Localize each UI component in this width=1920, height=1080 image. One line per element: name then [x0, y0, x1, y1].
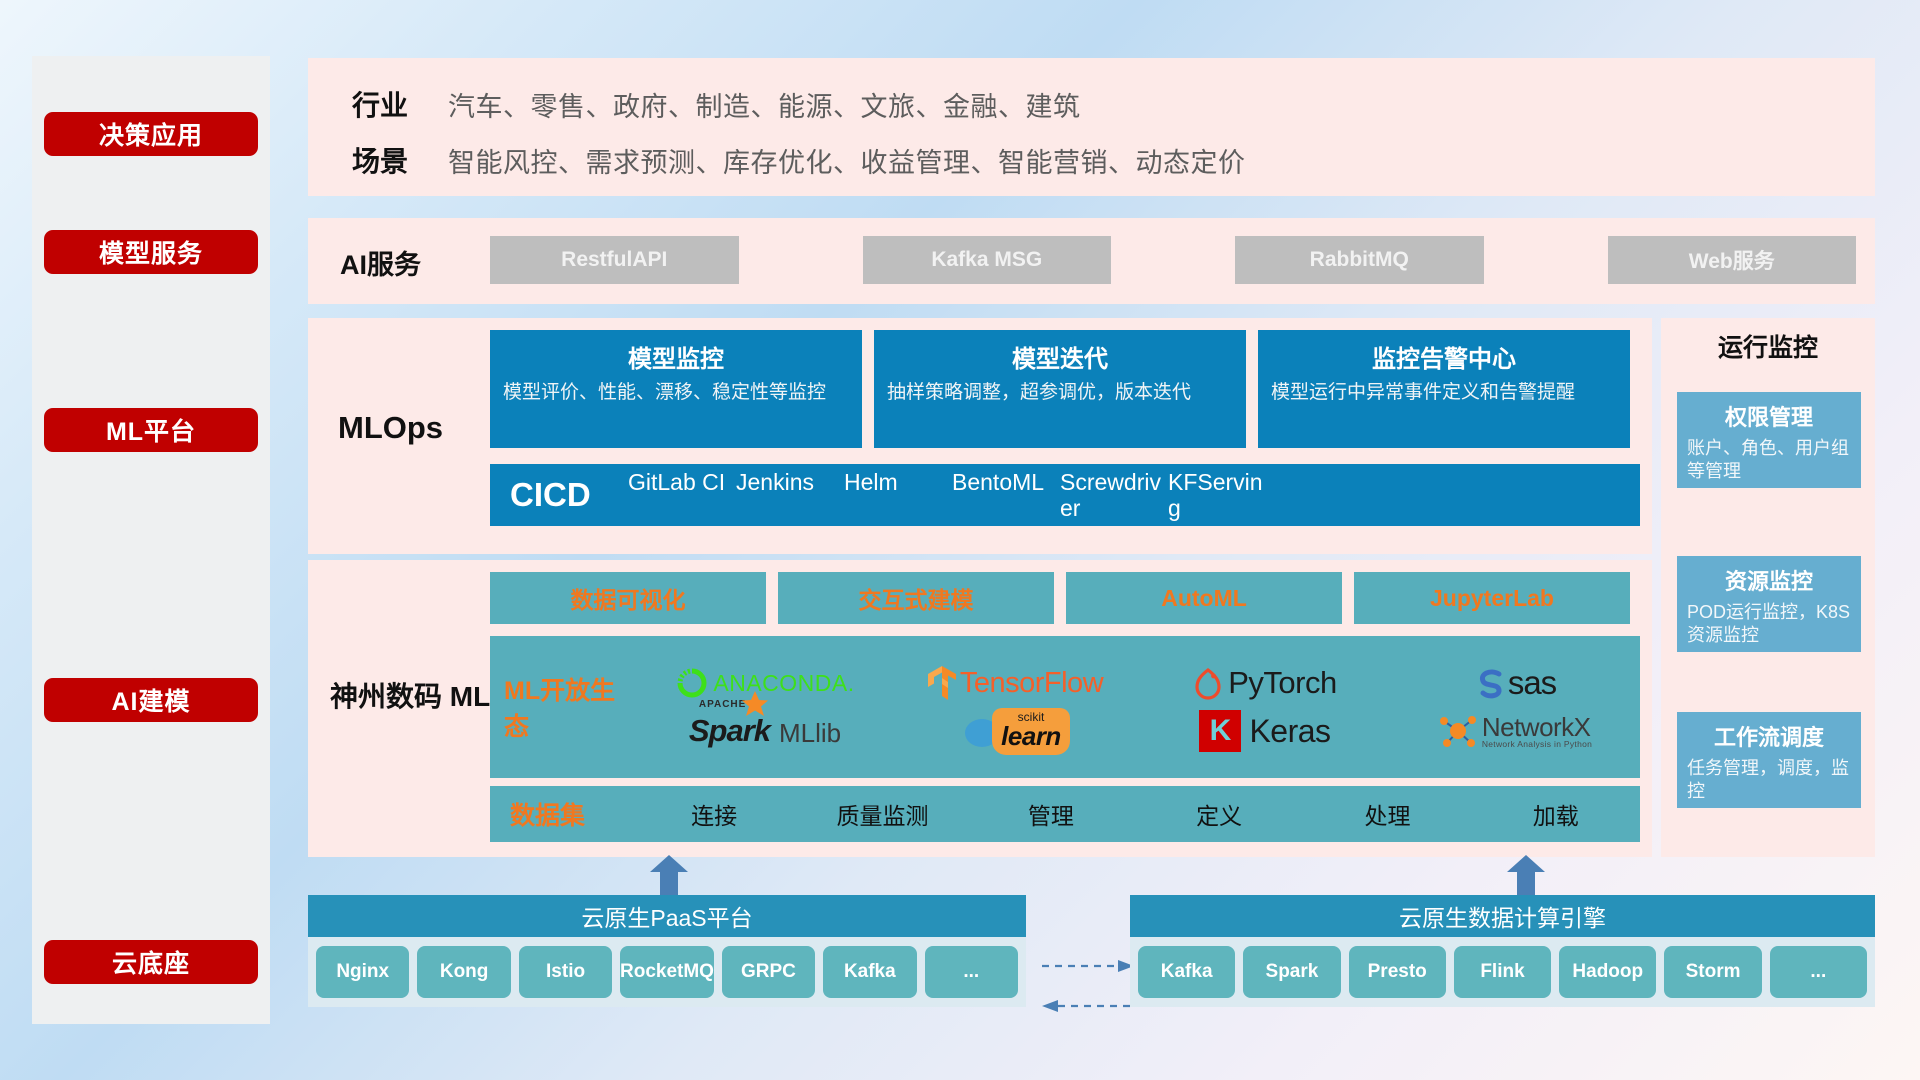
spark-apache-mark: APACHE — [699, 699, 746, 710]
mllib-wordmark: MLlib — [779, 718, 841, 749]
ai-service-box-label: Web服务 — [1689, 245, 1775, 275]
monitor-card-permission[interactable]: 权限管理 账户、角色、用户组等管理 — [1677, 392, 1861, 488]
ai-service-box-label: RestfulAPI — [561, 248, 667, 272]
chip-kong[interactable]: Kong — [417, 946, 510, 998]
chip-rocketmq[interactable]: RocketMQ — [620, 946, 713, 998]
mlops-card-alert-center[interactable]: 监控告警中心 模型运行中异常事件定义和告警提醒 — [1258, 330, 1630, 448]
diagram-canvas: 决策应用 模型服务 ML平台 AI建模 云底座 行业 汽车、零售、政府、制造、能… — [0, 0, 1920, 1080]
sidebar-item-label: 模型服务 — [99, 234, 203, 270]
decision-row-scenario: 场景 智能风控、需求预测、库存优化、收益管理、智能营销、动态定价 — [352, 140, 1246, 180]
anaconda-icon — [675, 666, 709, 700]
ml-ecosystem-title: ML开放生态 — [490, 671, 640, 743]
learn-wordmark: learn — [1001, 723, 1061, 749]
cloud-base-compute-title: 云原生数据计算引擎 — [1130, 895, 1875, 937]
sidebar-item-label: ML平台 — [106, 412, 196, 448]
monitor-card-title: 权限管理 — [1687, 400, 1851, 432]
mlops-card-title: 模型迭代 — [887, 339, 1233, 374]
ai-service-box-rabbitmq[interactable]: RabbitMQ — [1235, 236, 1484, 284]
modeling-tool-data-visualization[interactable]: 数据可视化 — [490, 572, 766, 624]
sidebar-item-label: 云底座 — [112, 944, 190, 980]
keras-k-mark: K — [1210, 714, 1232, 748]
pytorch-icon — [1193, 666, 1223, 700]
cicd-title: CICD — [510, 476, 628, 514]
modeling-tool-jupyterlab[interactable]: JupyterLab — [1354, 572, 1630, 624]
ml-ecosystem-logo-group: ANACONDA. TensorFlow PyTorch — [640, 659, 1640, 755]
tensorflow-icon — [927, 665, 957, 701]
chip-more[interactable]: ... — [1770, 946, 1867, 998]
chip-kafka[interactable]: Kafka — [823, 946, 916, 998]
pytorch-logo: PyTorch — [1140, 665, 1390, 701]
mlops-card-title: 模型监控 — [503, 339, 849, 374]
chip-spark[interactable]: Spark — [1243, 946, 1340, 998]
up-arrow-icon-paas — [648, 855, 690, 895]
tensorflow-logo: TensorFlow — [890, 665, 1140, 701]
cloud-base-paas: 云原生PaaS平台 Nginx Kong Istio RocketMQ GRPC… — [308, 895, 1026, 1007]
cloud-base-compute-engine: 云原生数据计算引擎 Kafka Spark Presto Flink Hadoo… — [1130, 895, 1875, 1007]
keras-icon: K — [1199, 710, 1241, 752]
spark-star-icon — [741, 691, 769, 717]
monitor-card-title: 工作流调度 — [1687, 720, 1851, 752]
monitor-card-desc: POD运行监控，K8S资源监控 — [1687, 601, 1851, 646]
sidebar-item-ml-platform[interactable]: ML平台 — [44, 408, 258, 452]
sidebar-item-ai-modeling[interactable]: AI建模 — [44, 678, 258, 722]
scikit-learn-logo: scikit learn — [890, 707, 1140, 755]
tensorflow-wordmark: TensorFlow — [960, 667, 1103, 700]
dataset-bar: 数据集 连接 质量监测 管理 定义 处理 加载 — [490, 786, 1640, 842]
chip-kafka[interactable]: Kafka — [1138, 946, 1235, 998]
monitor-card-title: 资源监控 — [1687, 564, 1851, 596]
modeling-tool-label: AutoML — [1161, 585, 1247, 612]
chip-grpc[interactable]: GRPC — [722, 946, 815, 998]
monitor-card-workflow[interactable]: 工作流调度 任务管理，调度，监控 — [1677, 712, 1861, 808]
layer-rail — [32, 56, 270, 1024]
modeling-tool-label: 数据可视化 — [571, 581, 686, 615]
ai-service-box-label: RabbitMQ — [1310, 248, 1409, 272]
ai-service-box-group: RestfulAPI Kafka MSG RabbitMQ Web服务 — [490, 236, 1856, 284]
cicd-item-kfserving[interactable]: KFServing — [1168, 469, 1276, 522]
mlops-card-desc: 抽样策略调整，超参调优，版本迭代 — [887, 381, 1233, 405]
sidebar-item-label: 决策应用 — [99, 116, 203, 152]
cloud-base-paas-chip-group: Nginx Kong Istio RocketMQ GRPC Kafka ... — [308, 937, 1026, 1007]
dataset-title: 数据集 — [490, 796, 630, 832]
cicd-item-gitlab[interactable]: GitLab CI — [628, 469, 736, 495]
ai-service-label: AI服务 — [340, 243, 421, 282]
modeling-tool-label: JupyterLab — [1430, 585, 1554, 612]
dataset-item-group: 连接 质量监测 管理 定义 处理 加载 — [630, 797, 1640, 831]
cloud-base-paas-title: 云原生PaaS平台 — [308, 895, 1026, 937]
cicd-item-jenkins[interactable]: Jenkins — [736, 469, 844, 495]
sidebar-item-label: AI建模 — [111, 682, 190, 718]
ai-service-box-kafka[interactable]: Kafka MSG — [863, 236, 1112, 284]
cicd-item-helm[interactable]: Helm — [844, 469, 952, 495]
mlops-card-desc: 模型评价、性能、漂移、稳定性等监控 — [503, 381, 849, 405]
chip-istio[interactable]: Istio — [519, 946, 612, 998]
decision-row-key: 场景 — [352, 140, 448, 180]
keras-wordmark: Keras — [1249, 713, 1330, 750]
modeling-tool-label: 交互式建模 — [859, 581, 974, 615]
chip-nginx[interactable]: Nginx — [316, 946, 409, 998]
mlops-card-title: 监控告警中心 — [1271, 339, 1617, 374]
mlops-card-model-iteration[interactable]: 模型迭代 抽样策略调整，超参调优，版本迭代 — [874, 330, 1246, 448]
sidebar-item-cloud-base[interactable]: 云底座 — [44, 940, 258, 984]
networkx-logo: NetworkX Network Analysis in Python — [1390, 712, 1640, 750]
networkx-wordmark: NetworkX — [1482, 714, 1592, 740]
runtime-monitor-title: 运行监控 — [1661, 328, 1875, 364]
keras-logo: K Keras — [1140, 710, 1390, 752]
sas-wordmark: sas — [1508, 664, 1556, 702]
monitor-card-resource[interactable]: 资源监控 POD运行监控，K8S资源监控 — [1677, 556, 1861, 652]
spark-wordmark: Spark — [689, 713, 770, 748]
chip-hadoop[interactable]: Hadoop — [1559, 946, 1656, 998]
decision-row-industry: 行业 汽车、零售、政府、制造、能源、文旅、金融、建筑 — [352, 84, 1081, 124]
ml-ecosystem-bar: ML开放生态 ANACONDA. TensorFlow — [490, 636, 1640, 778]
sidebar-item-decision-app[interactable]: 决策应用 — [44, 112, 258, 156]
dataset-item-quality[interactable]: 质量监测 — [798, 797, 966, 831]
up-arrow-icon-compute — [1505, 855, 1547, 895]
cloud-base-compute-chip-group: Kafka Spark Presto Flink Hadoop Storm ..… — [1130, 937, 1875, 1007]
networkx-tagline: Network Analysis in Python — [1482, 740, 1592, 749]
decision-row-value: 汽车、零售、政府、制造、能源、文旅、金融、建筑 — [448, 85, 1081, 124]
cicd-item-screwdriver[interactable]: Screwdriver — [1060, 469, 1168, 522]
monitor-card-desc: 任务管理，调度，监控 — [1687, 757, 1851, 802]
sas-logo: sas — [1390, 664, 1640, 702]
chip-flink[interactable]: Flink — [1454, 946, 1551, 998]
dataset-item-connect[interactable]: 连接 — [630, 797, 798, 831]
modeling-tool-group: 数据可视化 交互式建模 AutoML JupyterLab — [490, 572, 1630, 624]
chip-more[interactable]: ... — [925, 946, 1018, 998]
dataset-item-define[interactable]: 定义 — [1135, 797, 1303, 831]
bidirectional-dashed-connector — [1040, 952, 1136, 1020]
ai-service-box-restful[interactable]: RestfulAPI — [490, 236, 739, 284]
spark-mllib-logo: APACHE Spark MLlib — [640, 713, 890, 749]
scikit-orange-blob-icon: scikit learn — [992, 708, 1070, 755]
chip-storm[interactable]: Storm — [1664, 946, 1761, 998]
modeling-tool-automl[interactable]: AutoML — [1066, 572, 1342, 624]
cicd-item-group: GitLab CI Jenkins Helm BentoML Screwdriv… — [628, 469, 1276, 522]
mlops-label: MLOps — [338, 410, 443, 446]
ai-service-box-label: Kafka MSG — [931, 248, 1042, 272]
decision-row-key: 行业 — [352, 84, 448, 124]
dataset-item-load[interactable]: 加载 — [1472, 797, 1640, 831]
mlops-card-model-monitoring[interactable]: 模型监控 模型评价、性能、漂移、稳定性等监控 — [490, 330, 862, 448]
anaconda-wordmark: ANACONDA. — [713, 670, 854, 697]
decision-row-value: 智能风控、需求预测、库存优化、收益管理、智能营销、动态定价 — [448, 141, 1246, 180]
sidebar-item-model-service[interactable]: 模型服务 — [44, 230, 258, 274]
dataset-item-process[interactable]: 处理 — [1303, 797, 1471, 831]
dataset-item-manage[interactable]: 管理 — [967, 797, 1135, 831]
mlops-card-group: 模型监控 模型评价、性能、漂移、稳定性等监控 模型迭代 抽样策略调整，超参调优，… — [490, 330, 1630, 448]
pytorch-wordmark: PyTorch — [1228, 665, 1336, 701]
networkx-icon — [1438, 712, 1478, 750]
ai-service-box-web[interactable]: Web服务 — [1608, 236, 1857, 284]
cicd-bar: CICD GitLab CI Jenkins Helm BentoML Scre… — [490, 464, 1640, 526]
modeling-tool-interactive-modeling[interactable]: 交互式建模 — [778, 572, 1054, 624]
sas-icon — [1474, 666, 1508, 700]
cicd-item-bentoml[interactable]: BentoML — [952, 469, 1060, 495]
monitor-card-desc: 账户、角色、用户组等管理 — [1687, 437, 1851, 482]
chip-presto[interactable]: Presto — [1349, 946, 1446, 998]
mlops-card-desc: 模型运行中异常事件定义和告警提醒 — [1271, 381, 1617, 405]
